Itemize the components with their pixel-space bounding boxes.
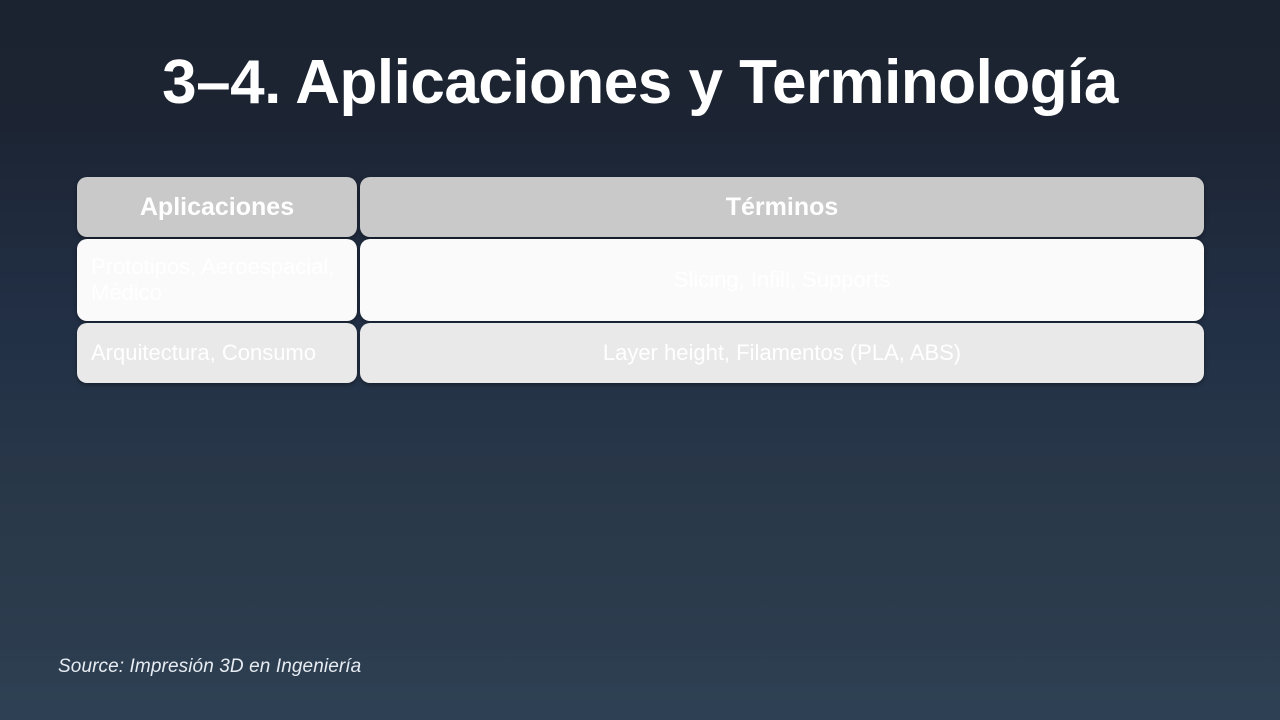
table-header-label-terminos: Términos [726,193,839,222]
table-cell-text-aplicaciones-2: Arquitectura, Consumo [91,340,316,366]
table-cell-terminos-2: Layer height, Filamentos (PLA, ABS) [360,323,1204,383]
table-header-cell-terminos: Términos [360,177,1204,237]
table-row: Prototipos, Aeroespacial, Médico Slicing… [77,239,1204,321]
table-header-label-aplicaciones: Aplicaciones [140,193,294,222]
table-cell-aplicaciones-1: Prototipos, Aeroespacial, Médico [77,239,357,321]
table-cell-aplicaciones-2: Arquitectura, Consumo [77,323,357,383]
table-header-row: Aplicaciones Términos [77,177,1204,237]
table-row: Arquitectura, Consumo Layer height, Fila… [77,323,1204,383]
table-header-cell-aplicaciones: Aplicaciones [77,177,357,237]
page-title: 3–4. Aplicaciones y Terminología [0,49,1280,117]
table-cell-text-aplicaciones-1: Prototipos, Aeroespacial, Médico [91,254,343,306]
slide-canvas: 3–4. Aplicaciones y Terminología Aplicac… [0,0,1280,720]
table-cell-terminos-1: Slicing, Infill, Supports [360,239,1204,321]
table-cell-text-terminos-2: Layer height, Filamentos (PLA, ABS) [603,340,961,366]
source-note: Source: Impresión 3D en Ingeniería [58,656,361,678]
comparison-table: Aplicaciones Términos Prototipos, Aeroes… [77,177,1204,383]
table-cell-text-terminos-1: Slicing, Infill, Supports [674,267,890,293]
